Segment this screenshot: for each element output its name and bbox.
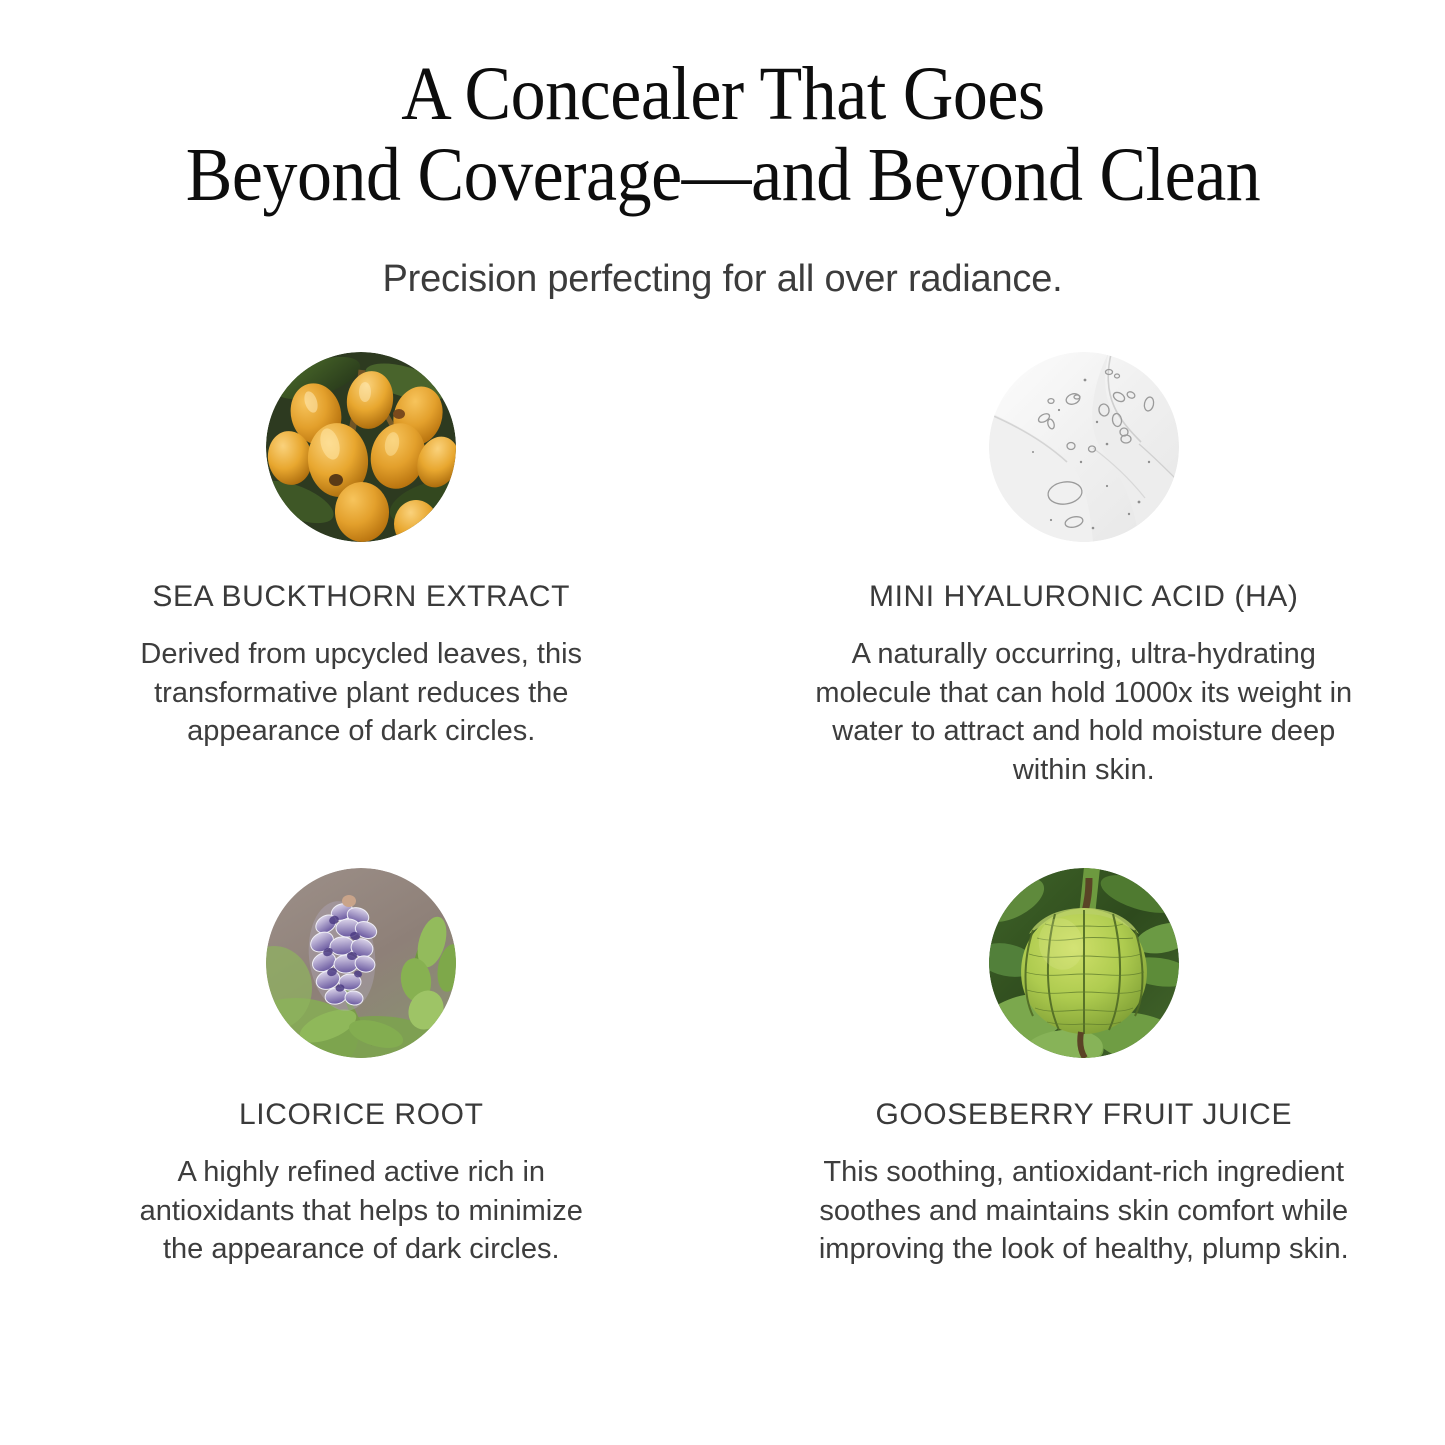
header: A Concealer That Goes Beyond Coverage—an… (0, 0, 1445, 303)
page-subtitle: Precision perfecting for all over radian… (0, 257, 1445, 303)
ingredient-description: A naturally occurring, ultra-hydrating m… (814, 635, 1354, 789)
hyaluronic-acid-gel-icon (989, 352, 1179, 542)
ingredient-title: LICORICE ROOT (239, 1098, 484, 1131)
ingredient-description: A highly refined active rich in antioxid… (126, 1153, 596, 1269)
ingredient-grid: SEA BUCKTHORN EXTRACT Derived from upcyc… (0, 352, 1445, 1269)
ingredient-benefits-infographic: A Concealer That Goes Beyond Coverage—an… (0, 0, 1445, 1445)
headline-line-1: A Concealer That Goes (129, 54, 1316, 135)
ingredient-card-sea-buckthorn-extract: SEA BUCKTHORN EXTRACT Derived from upcyc… (0, 352, 723, 868)
headline-line-2: Beyond Coverage—and Beyond Clean (129, 135, 1316, 216)
ingredient-description: This soothing, antioxidant-rich ingredie… (814, 1153, 1354, 1269)
sea-buckthorn-berries-icon (266, 352, 456, 542)
ingredient-title: SEA BUCKTHORN EXTRACT (152, 580, 570, 613)
ingredient-title: MINI HYALURONIC ACID (HA) (869, 580, 1298, 613)
ingredient-description: Derived from upcycled leaves, this trans… (126, 635, 596, 751)
ingredient-title: GOOSEBERRY FRUIT JUICE (875, 1098, 1292, 1131)
ingredient-card-mini-hyaluronic-acid: MINI HYALURONIC ACID (HA) A naturally oc… (723, 352, 1445, 868)
page-title: A Concealer That Goes Beyond Coverage—an… (129, 54, 1316, 215)
ingredient-card-gooseberry-fruit-juice: GOOSEBERRY FRUIT JUICE This soothing, an… (723, 868, 1445, 1269)
ingredient-card-licorice-root: LICORICE ROOT A highly refined active ri… (0, 868, 723, 1269)
licorice-root-flower-icon (266, 868, 456, 1058)
gooseberry-husk-icon (989, 868, 1179, 1058)
